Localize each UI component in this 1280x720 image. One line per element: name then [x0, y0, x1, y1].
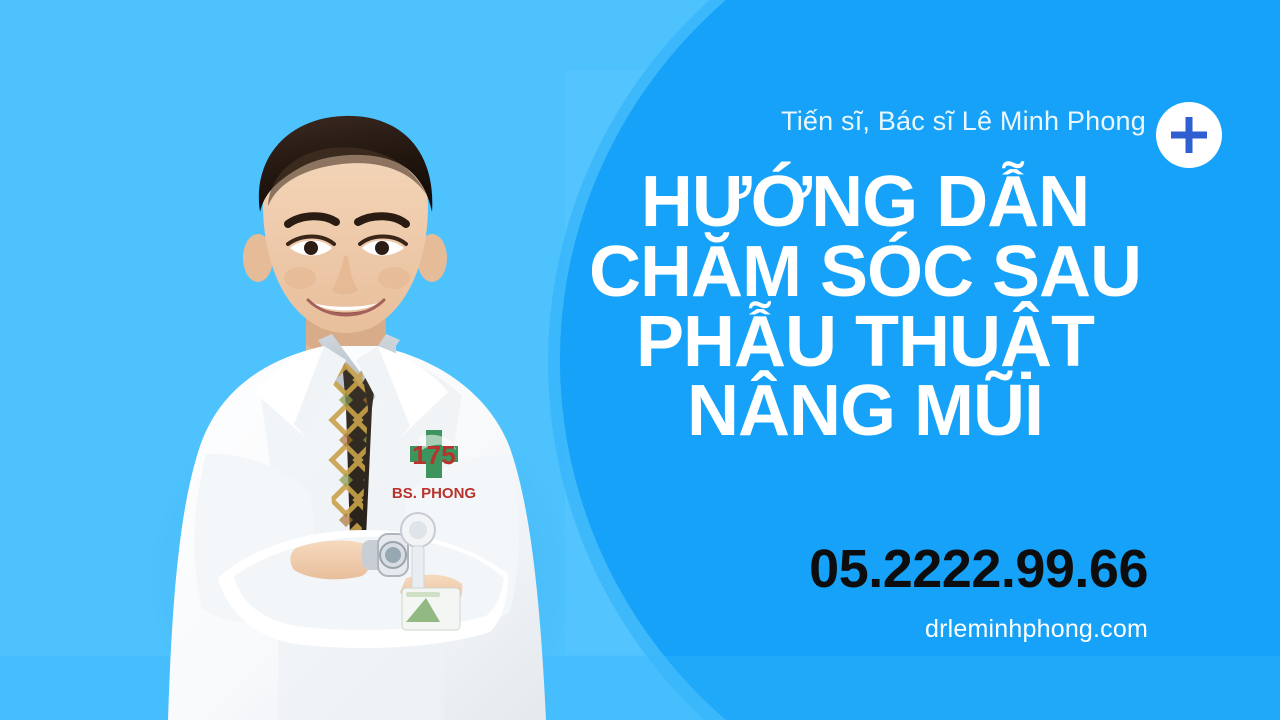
poster-canvas: 175 BS. PHONG: [0, 0, 1280, 720]
doctor-title-subtitle: Tiến sĩ, Bác sĩ Lê Minh Phong: [781, 106, 1146, 137]
headline-line-3: PHẪU THUẬT: [545, 308, 1185, 378]
svg-text:175: 175: [412, 440, 455, 470]
page-title: HƯỚNG DẪN CHĂM SÓC SAU PHẪU THUẬT NÂNG M…: [545, 168, 1185, 447]
headline-line-4: NÂNG MŨI: [545, 377, 1185, 447]
poster-content: Tiến sĩ, Bác sĩ Lê Minh Phong HƯỚNG DẪN …: [540, 0, 1240, 720]
headline-line-1: HƯỚNG DẪN: [545, 168, 1185, 238]
medical-plus-icon: [1156, 102, 1222, 168]
doctor-photo: 175 BS. PHONG: [110, 108, 580, 720]
contact-phone-number[interactable]: 05.2222.99.66: [809, 538, 1148, 600]
contact-website-url[interactable]: drleminhphong.com: [925, 615, 1148, 644]
headline-line-2: CHĂM SÓC SAU: [545, 238, 1185, 308]
svg-text:BS. PHONG: BS. PHONG: [392, 485, 476, 502]
